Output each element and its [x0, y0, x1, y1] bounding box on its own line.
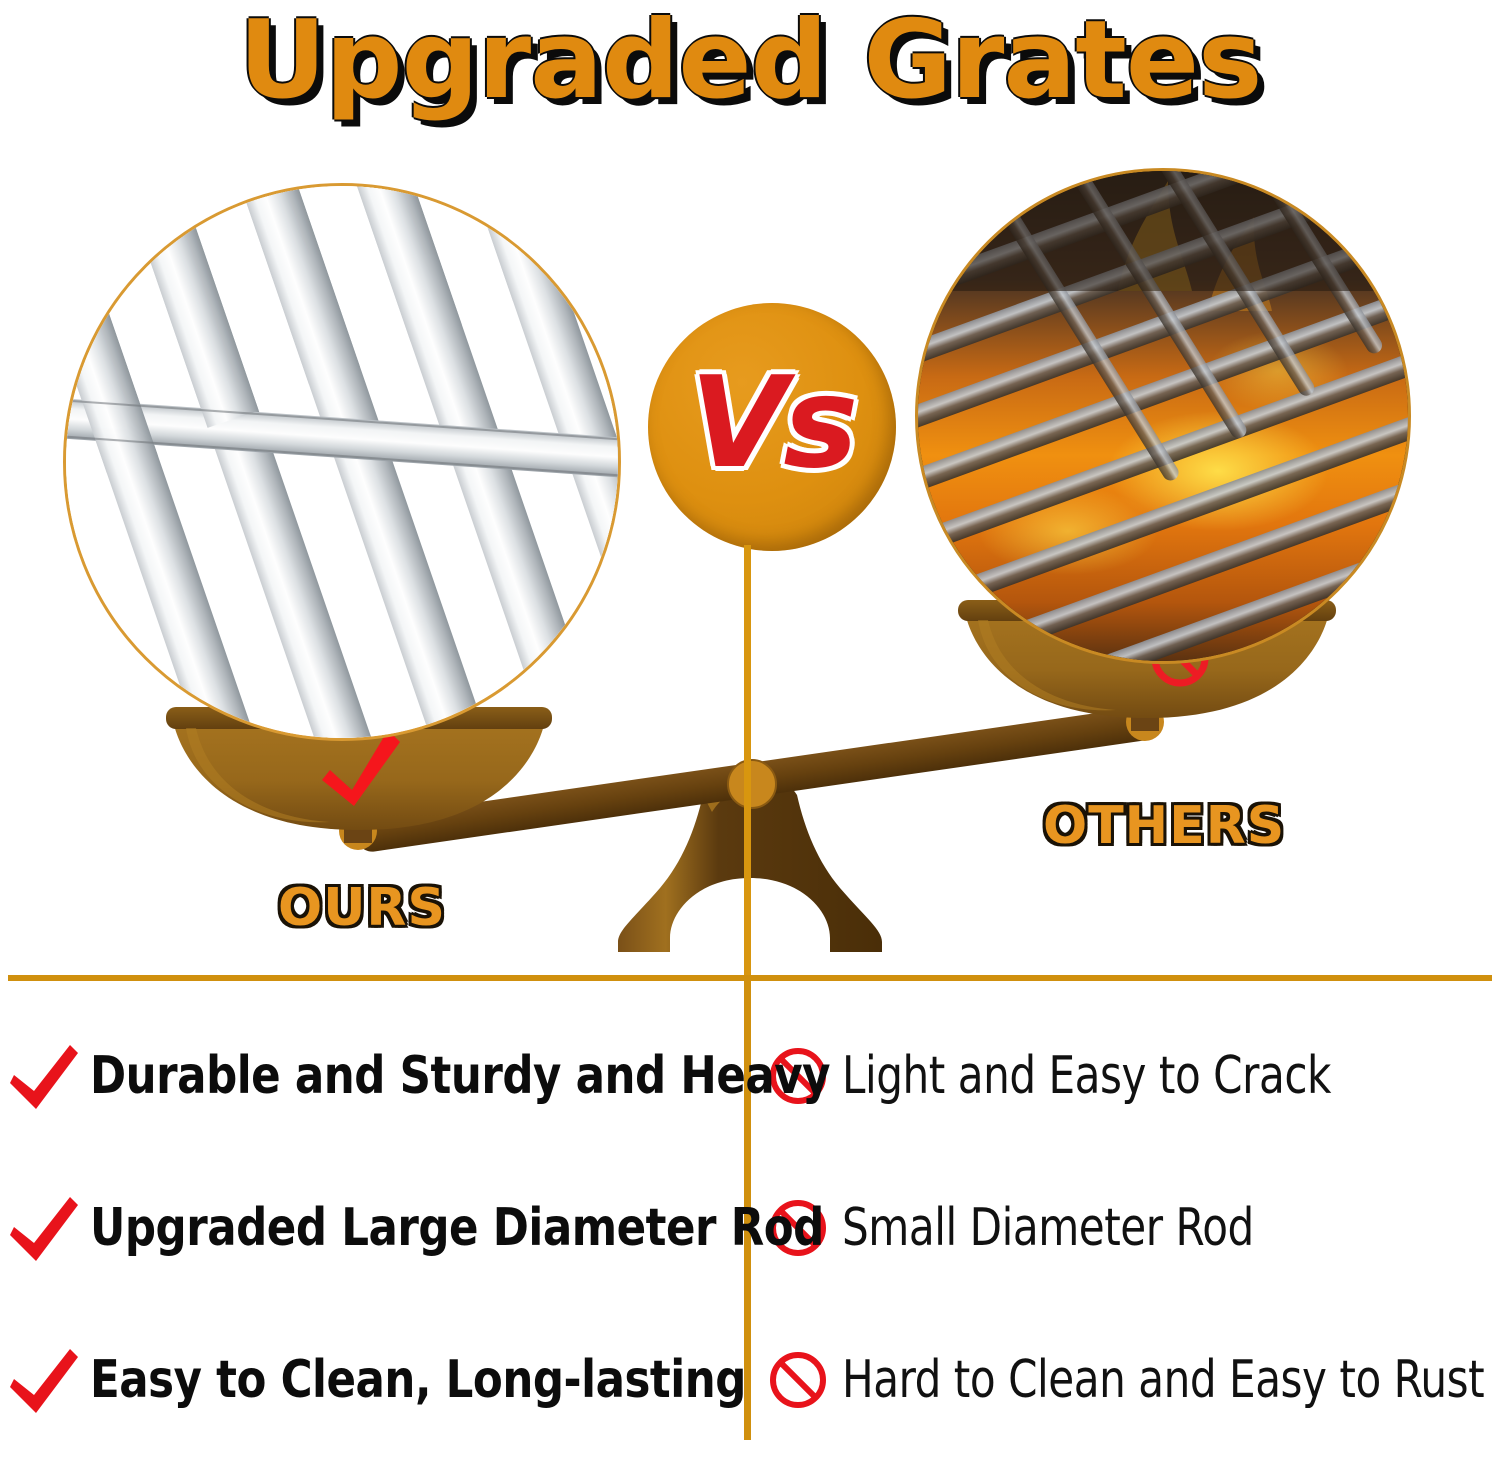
ours-label: OURS: [278, 880, 446, 936]
vertical-divider-upper: [744, 545, 751, 978]
red-check-icon: [8, 1039, 82, 1113]
pro-cell: Upgraded Large Diameter Rod: [0, 1153, 744, 1303]
con-text: Light and Easy to Crack: [842, 1046, 1331, 1106]
table-row: Easy to Clean, Long-lasting Hard to Clea…: [0, 1305, 1500, 1455]
pro-cell: Durable and Sturdy and Heavy: [0, 1001, 744, 1151]
table-row: Upgraded Large Diameter Rod Small Diamet…: [0, 1153, 1500, 1303]
vs-label: Vs: [690, 360, 855, 486]
con-cell: Light and Easy to Crack: [744, 1001, 1500, 1151]
pro-text: Easy to Clean, Long-lasting: [90, 1350, 746, 1410]
table-row: Durable and Sturdy and Heavy Light and E…: [0, 1001, 1500, 1151]
others-product-photo: [915, 168, 1411, 664]
infographic-page: Upgraded Grates: [0, 0, 1500, 1458]
pro-cell: Easy to Clean, Long-lasting: [0, 1305, 744, 1455]
pro-text: Upgraded Large Diameter Rod: [90, 1198, 824, 1258]
vs-badge: Vs: [648, 303, 896, 551]
con-text: Small Diameter Rod: [842, 1198, 1254, 1258]
others-label: OTHERS: [1043, 798, 1285, 854]
ours-product-photo: [63, 183, 621, 741]
con-cell: Small Diameter Rod: [744, 1153, 1500, 1303]
balance-scale-illustration: Vs OURS OTHERS: [0, 0, 1500, 978]
con-text: Hard to Clean and Easy to Rust: [842, 1350, 1484, 1410]
comparison-table: Durable and Sturdy and Heavy Light and E…: [0, 985, 1500, 1458]
red-prohibition-icon: [768, 1350, 828, 1410]
red-check-icon: [8, 1343, 82, 1417]
con-cell: Hard to Clean and Easy to Rust: [744, 1305, 1500, 1455]
red-check-icon: [8, 1191, 82, 1265]
pro-text: Durable and Sturdy and Heavy: [90, 1046, 830, 1106]
